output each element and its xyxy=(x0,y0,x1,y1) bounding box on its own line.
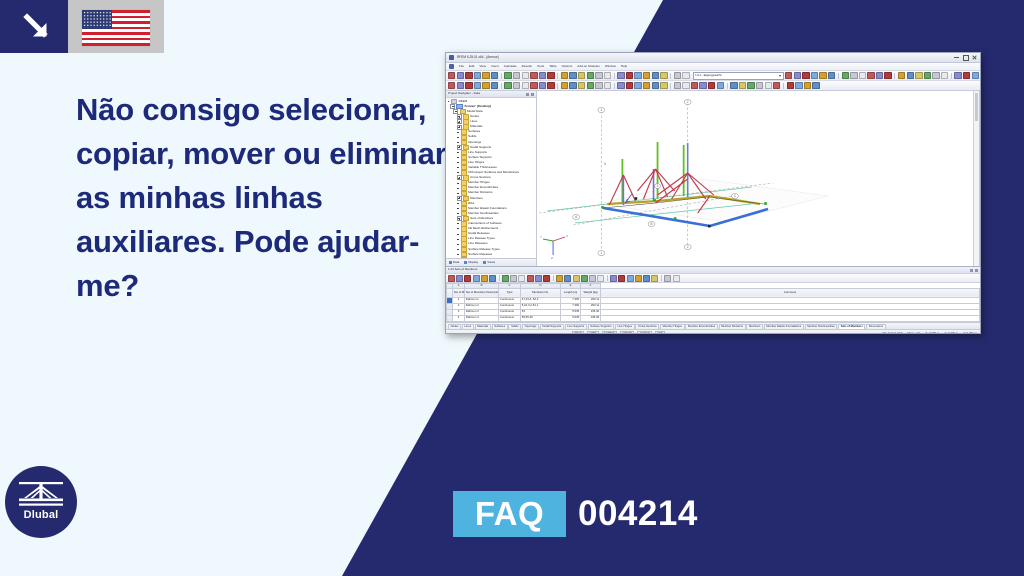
toolbar-button[interactable] xyxy=(907,72,914,79)
toolbar-separator xyxy=(951,73,952,79)
table-tab-sets-of-members[interactable]: Sets of Members xyxy=(838,324,865,329)
navigator-tab-display-label: Display xyxy=(468,261,478,264)
toolbar-button[interactable] xyxy=(691,82,698,89)
toolbar-button[interactable] xyxy=(980,72,981,79)
tree-spacer xyxy=(457,232,460,235)
tree-spacer xyxy=(457,182,460,185)
navigator-tab-views[interactable]: Views xyxy=(483,261,495,264)
toolbar-button[interactable] xyxy=(932,72,939,79)
table-column-headers: Set of M. No.Set of Members DescriptionT… xyxy=(447,288,980,297)
toolbar-button[interactable] xyxy=(730,82,737,89)
faq-label: FAQ xyxy=(475,495,544,533)
model-viewport[interactable]: 1 2 1 2 A C B 3 h xyxy=(537,91,980,266)
toolbar-button[interactable] xyxy=(643,72,650,79)
navigator-tree-item-label: Solids xyxy=(468,135,476,139)
table-tab-nodes[interactable]: Nodes xyxy=(448,324,461,329)
arrow-panel xyxy=(0,0,68,53)
toolbar-separator xyxy=(838,73,839,79)
toolbar-button[interactable] xyxy=(474,82,481,89)
statusbar-toggle-glines[interactable]: GLINES xyxy=(637,331,652,334)
rfem-app-icon xyxy=(449,55,454,60)
navigator-tree-item-label: Nodal Releases xyxy=(468,232,490,236)
navigator-tree-item-label: RFEM xyxy=(459,100,468,104)
toolbar-separator xyxy=(557,73,558,79)
toolbar-button[interactable] xyxy=(581,275,588,282)
expand-icon[interactable] xyxy=(457,216,462,221)
toolbar-button[interactable] xyxy=(481,275,488,282)
statusbar-toggle-cartes[interactable]: CARTES xyxy=(602,331,618,334)
toolbar-button[interactable] xyxy=(610,275,617,282)
menu-item-view[interactable]: View xyxy=(479,65,486,69)
navigator-tree-item-label: Materials xyxy=(470,125,482,129)
toolbar-button[interactable] xyxy=(569,82,576,89)
dimension-label: h xyxy=(604,162,606,166)
toolbar-button[interactable] xyxy=(756,82,763,89)
toolbar-separator xyxy=(553,275,554,281)
toolbar-button[interactable] xyxy=(578,82,585,89)
toolbar-button[interactable] xyxy=(643,82,650,89)
tree-spacer xyxy=(457,151,460,154)
toolbar-button[interactable] xyxy=(474,72,481,79)
faq-number: 004214 xyxy=(578,491,698,537)
navigator-tree-item-label: Line Hinges xyxy=(468,161,484,165)
statusbar-toggle-osnap[interactable]: OSNAP xyxy=(620,331,634,334)
menu-item-edit[interactable]: Edit xyxy=(469,65,474,69)
toolbar-button[interactable] xyxy=(504,82,511,89)
statusbar-toggle-snap[interactable]: SNAP xyxy=(572,331,584,334)
navigator-tree-item-label: Member Elastic Foundations xyxy=(468,207,507,211)
tree-spacer xyxy=(457,227,460,230)
toolbar-button[interactable] xyxy=(626,72,633,79)
toolbar-button[interactable] xyxy=(747,82,754,89)
main-toolbar[interactable]: LC1 - Eigengewicht xyxy=(446,71,980,81)
toolbar-button[interactable] xyxy=(589,275,596,282)
window-titlebar: RFEM 5.25.01 x64 - [Armour] xyxy=(446,53,980,63)
table-tab-solids[interactable]: Solids xyxy=(508,324,521,329)
svg-text:3: 3 xyxy=(657,184,659,188)
toolbar-button[interactable] xyxy=(627,275,634,282)
table-tab-member-eccentricities[interactable]: Member Eccentricities xyxy=(685,324,717,329)
tree-spacer xyxy=(447,100,450,103)
toolbar-button[interactable] xyxy=(652,82,659,89)
toolbar-button[interactable] xyxy=(626,82,633,89)
toolbar-button[interactable] xyxy=(504,72,511,79)
toolbar-button[interactable] xyxy=(867,72,874,79)
navigator-tree-item-label: Surface Supports xyxy=(468,156,492,160)
toolbar-button[interactable] xyxy=(473,275,480,282)
toolbar-button[interactable] xyxy=(842,72,849,79)
toolbar-button[interactable] xyxy=(618,275,625,282)
statusbar-cursor-z: Z: 0.000 m xyxy=(963,332,977,334)
toolbar-button[interactable] xyxy=(564,275,571,282)
toolbar-button[interactable] xyxy=(652,72,659,79)
table-tab-line-hinges[interactable]: Line Hinges xyxy=(615,324,635,329)
toolbar-button[interactable] xyxy=(915,72,922,79)
menu-item-table[interactable]: Table xyxy=(549,65,556,69)
toolbar-button[interactable] xyxy=(765,82,772,89)
table-tab-surfaces[interactable]: Surfaces xyxy=(492,324,508,329)
tree-spacer xyxy=(457,192,460,195)
toolbar-separator xyxy=(607,275,608,281)
toolbar-button[interactable] xyxy=(604,82,611,89)
toolbar-separator xyxy=(501,73,502,79)
coordinate-triad: X Y Z xyxy=(540,234,568,260)
maximize-button[interactable] xyxy=(963,55,968,60)
menu-app-icon xyxy=(449,64,454,69)
toolbar-button[interactable] xyxy=(674,82,681,89)
toolbar-button[interactable] xyxy=(972,72,979,79)
toolbar-button[interactable] xyxy=(634,82,641,89)
svg-text:B: B xyxy=(650,222,652,226)
table-body: 1Rahmen 1Continuous47,43-4, 52,37.360293… xyxy=(447,297,980,321)
axis-guidelines xyxy=(539,103,773,253)
statusbar-active-plane: Plane: XY xyxy=(908,332,921,334)
toolbar-button[interactable] xyxy=(617,82,624,89)
toolbar-separator xyxy=(614,73,615,79)
toolbar-separator xyxy=(783,83,784,89)
toolbar-button[interactable] xyxy=(604,72,611,79)
table-column-header[interactable]: Set of M. No. xyxy=(453,288,465,297)
dlubal-logo: Dlubal xyxy=(5,466,77,538)
toolbar-separator xyxy=(670,73,671,79)
expand-icon[interactable] xyxy=(457,175,462,180)
tree-spacer xyxy=(457,212,460,215)
window-title: RFEM 5.25.01 x64 - [Armour] xyxy=(457,56,499,60)
navigator-tree-item-label: Variable Thicknesses xyxy=(468,166,497,170)
navigator-tree-item-label: Member Divisions xyxy=(468,191,492,195)
toolbar-button[interactable] xyxy=(448,72,455,79)
slide-canvas: Não consigo selecionar, copiar, mover ou… xyxy=(0,0,1024,576)
toolbar-button[interactable] xyxy=(674,72,681,79)
toolbar-button[interactable] xyxy=(898,72,905,79)
headline-text: Não consigo selecionar, copiar, mover ou… xyxy=(76,88,456,308)
toolbar-separator xyxy=(614,83,615,89)
table-panel[interactable]: 1.24 Sets of Members ABCDEF Set of M. No… xyxy=(446,266,980,329)
table-title: 1.24 Sets of Members xyxy=(448,268,477,271)
toolbar-button[interactable] xyxy=(859,72,866,79)
navigator-title: Project Navigator - Data xyxy=(448,92,480,95)
toolbar-button[interactable] xyxy=(850,72,857,79)
toolbar-button[interactable] xyxy=(884,72,891,79)
toolbar-separator xyxy=(661,275,662,281)
toolbar-button[interactable] xyxy=(569,72,576,79)
toolbar-button[interactable] xyxy=(513,82,520,89)
navigator-tab-display[interactable]: Display xyxy=(464,261,478,264)
toolbar-button[interactable] xyxy=(651,275,658,282)
navigator-tab-data[interactable]: Data xyxy=(449,261,459,264)
axis-bubbles: 1 2 1 2 A C B 3 h xyxy=(573,99,739,255)
toolbar-button[interactable] xyxy=(617,72,624,79)
navigator-tree-item-label: Orthotropic Surfaces and Membranes xyxy=(468,171,519,175)
toolbar-button[interactable] xyxy=(547,82,554,89)
table-column-header[interactable]: Length [m] xyxy=(561,288,581,297)
toolbar-separator xyxy=(894,73,895,79)
menu-item-results[interactable]: Results xyxy=(522,65,532,69)
sets-of-members-table[interactable]: ABCDEF Set of M. No.Set of Members Descr… xyxy=(446,283,980,322)
status-bar[interactable]: SNAPGRIDCARTESOSNAPGLINESDXFCS: Global X… xyxy=(446,329,980,334)
svg-text:Y: Y xyxy=(540,235,542,239)
toolbar-button[interactable] xyxy=(489,275,496,282)
toolbar-button[interactable] xyxy=(448,82,455,89)
navigator-tree-item-label: Nodes xyxy=(470,115,479,119)
navigator-tree-item-label: Cross-Sections xyxy=(470,176,491,180)
toolbar-button[interactable] xyxy=(717,82,724,89)
table-column-header[interactable]: Type xyxy=(499,288,521,297)
table-tab-members[interactable]: Members xyxy=(746,324,763,329)
faq-badge: FAQ xyxy=(453,491,566,537)
statusbar-coordinate-system: CS: Global XYZ xyxy=(882,332,902,334)
navigator-pin-controls[interactable] xyxy=(526,93,534,96)
table-tab-member-divisions[interactable]: Member Divisions xyxy=(719,324,746,329)
toolbar-button[interactable] xyxy=(660,72,667,79)
toolbar-button[interactable] xyxy=(785,72,792,79)
dlubal-truss-icon xyxy=(18,481,64,507)
svg-text:X: X xyxy=(566,234,568,238)
toolbar-button[interactable] xyxy=(518,275,525,282)
project-navigator[interactable]: Project Navigator - Data RFEM'Armour' [D… xyxy=(446,91,537,266)
navigator-tree-item-label: Line Release Types xyxy=(468,237,495,241)
viewport-vertical-scrollbar[interactable] xyxy=(973,91,979,266)
chevron-down-icon[interactable] xyxy=(779,75,781,77)
toolbar-button[interactable] xyxy=(530,72,537,79)
table-tab-dimensions[interactable]: Dimensions xyxy=(866,324,886,329)
table-column-header[interactable]: Weight [kg] xyxy=(581,288,601,297)
navigator-tree-item-label: Sets of Members xyxy=(470,217,493,221)
scrollbar-thumb[interactable] xyxy=(975,93,979,121)
statusbar-cursor-x: X: 0.000 m xyxy=(925,332,939,334)
toolbar-button[interactable] xyxy=(587,72,594,79)
secondary-toolbar[interactable] xyxy=(446,81,980,91)
table-column-header[interactable]: Members No. xyxy=(521,288,561,297)
navigator-tree-item-label: Members xyxy=(470,197,483,201)
menu-bar[interactable]: File Edit View Insert Calculate Results … xyxy=(446,63,980,71)
navigator-tree-item-label: Member Eccentricities xyxy=(468,186,498,190)
navigator-tree-item-label: Intersections of Surfaces xyxy=(468,222,502,226)
us-flag-icon xyxy=(82,10,150,46)
menu-item-file[interactable]: File xyxy=(459,65,464,69)
statusbar-cursor-y: Y: 0.000 m xyxy=(944,332,958,334)
toolbar-button[interactable] xyxy=(804,82,811,89)
navigator-tree[interactable]: RFEM'Armour' [Desktop]Model DataNodesLin… xyxy=(446,98,536,258)
toolbar-button[interactable] xyxy=(941,72,948,79)
toolbar-button[interactable] xyxy=(795,82,802,89)
grid-plane xyxy=(599,179,828,222)
toolbar-separator xyxy=(727,83,728,89)
expand-icon[interactable] xyxy=(457,125,462,130)
toolbar-separator xyxy=(557,83,558,89)
rfem-application-window[interactable]: RFEM 5.25.01 x64 - [Armour] File Edit Vi… xyxy=(445,52,981,334)
navigator-tree-item-label: Surface Release Types xyxy=(468,248,499,252)
menu-item-tools[interactable]: Tools xyxy=(537,65,544,69)
arrow-down-right-icon xyxy=(22,12,52,42)
toolbar-button[interactable] xyxy=(812,82,819,89)
tree-spacer xyxy=(457,166,460,169)
toolbar-button[interactable] xyxy=(595,82,602,89)
navigator-tab-data-label: Data xyxy=(453,261,459,264)
toolbar-button[interactable] xyxy=(699,82,706,89)
toolbar-button[interactable] xyxy=(578,72,585,79)
toolbar-button[interactable] xyxy=(660,82,667,89)
statusbar-readouts: CS: Global XYZPlane: XYX: 0.000 mY: 0.00… xyxy=(882,332,977,334)
minimize-button[interactable] xyxy=(954,55,959,60)
toolbar-button[interactable] xyxy=(682,72,689,79)
menu-item-insert[interactable]: Insert xyxy=(491,65,499,69)
toolbar-button[interactable] xyxy=(448,275,455,282)
toolbar-button[interactable] xyxy=(573,275,580,282)
table-tab-lines[interactable]: Lines xyxy=(462,324,474,329)
toolbar-separator xyxy=(670,83,671,89)
toolbar-button[interactable] xyxy=(456,275,463,282)
toolbar-button[interactable] xyxy=(457,82,464,89)
toolbar-button[interactable] xyxy=(595,72,602,79)
navigator-tree-item-label: Nodal Supports xyxy=(470,146,491,150)
tree-spacer xyxy=(457,253,460,256)
statusbar-toggle-dxf[interactable]: DXF xyxy=(655,331,665,334)
toolbar-button[interactable] xyxy=(664,275,671,282)
toolbar-button[interactable] xyxy=(561,82,568,89)
toolbar-button[interactable] xyxy=(634,72,641,79)
toolbar-button[interactable] xyxy=(491,72,498,79)
toolbar-button[interactable] xyxy=(811,72,818,79)
tree-spacer xyxy=(457,248,460,251)
menu-item-options[interactable]: Options xyxy=(562,65,573,69)
toolbar-button[interactable] xyxy=(587,82,594,89)
toolbar-button[interactable] xyxy=(530,82,537,89)
navigator-tree-item-label: Surface Releases xyxy=(468,253,492,257)
toolbar-button[interactable] xyxy=(535,275,542,282)
toolbar-button[interactable] xyxy=(539,72,546,79)
expand-icon[interactable] xyxy=(457,196,462,201)
toolbar-button[interactable] xyxy=(482,82,489,89)
tree-spacer xyxy=(457,222,460,225)
table-tab-openings[interactable]: Openings xyxy=(522,324,539,329)
navigator-tree-item-label: Line Releases xyxy=(468,242,487,246)
toolbar-button[interactable] xyxy=(876,72,883,79)
language-flag-plate xyxy=(68,0,164,53)
expand-icon[interactable] xyxy=(457,145,462,150)
toolbar-button[interactable] xyxy=(802,72,809,79)
tree-spacer xyxy=(457,171,460,174)
navigator-tree-item-label: Line Supports xyxy=(468,151,487,155)
svg-text:1: 1 xyxy=(600,251,602,255)
table-column-header[interactable]: Comment xyxy=(601,288,980,297)
toolbar-button[interactable] xyxy=(510,275,517,282)
toolbar-button[interactable] xyxy=(773,82,780,89)
toolbar-button[interactable] xyxy=(794,72,801,79)
tree-spacer xyxy=(457,131,460,134)
tree-spacer xyxy=(457,136,460,139)
navigator-tab-views-label: Views xyxy=(487,261,495,264)
table-tab-line-supports[interactable]: Line Supports xyxy=(565,324,587,329)
toolbar-button[interactable] xyxy=(924,72,931,79)
toolbar-button[interactable] xyxy=(556,275,563,282)
toolbar-button[interactable] xyxy=(739,82,746,89)
navigator-tabs[interactable]: Data Display Views xyxy=(446,258,536,266)
toolbar-button[interactable] xyxy=(682,82,689,89)
menu-item-calculate[interactable]: Calculate xyxy=(504,65,517,69)
toolbar-button[interactable] xyxy=(597,275,604,282)
menu-item-addon-modules[interactable]: Add-on Modules xyxy=(577,65,600,69)
table-tab-surface-supports[interactable]: Surface Supports xyxy=(588,324,614,329)
toolbar-button[interactable] xyxy=(819,72,826,79)
toolbar-button[interactable] xyxy=(643,275,650,282)
navigator-tree-item-label: Openings xyxy=(468,141,481,145)
table-tab-nodal-supports[interactable]: Nodal Supports xyxy=(540,324,564,329)
toolbar-button[interactable] xyxy=(502,275,509,282)
table-tab-member-elastic-foundations[interactable]: Member Elastic Foundations xyxy=(764,324,804,329)
table-tab-cross-sections[interactable]: Cross-Sections xyxy=(635,324,659,329)
navigator-tree-item-label: Model Data xyxy=(467,110,483,114)
toolbar-button[interactable] xyxy=(539,82,546,89)
toolbar-button[interactable] xyxy=(482,72,489,79)
toolbar-button[interactable] xyxy=(527,275,534,282)
toolbar-button[interactable] xyxy=(513,72,520,79)
tree-spacer xyxy=(457,161,460,164)
toolbar-button[interactable] xyxy=(464,275,471,282)
toolbar-button[interactable] xyxy=(522,82,529,89)
table-grid-wrapper[interactable]: ABCDEF Set of M. No.Set of Members Descr… xyxy=(446,283,980,322)
load-case-value: LC1 - Eigengewicht xyxy=(695,74,721,77)
navigator-tree-item-label: Member Hinges xyxy=(468,181,490,185)
toolbar-button[interactable] xyxy=(963,72,970,79)
toolbar-button[interactable] xyxy=(465,72,472,79)
tree-spacer xyxy=(457,243,460,246)
table-tab-strip[interactable]: NodesLinesMaterialsSurfacesSolidsOpening… xyxy=(446,322,980,330)
svg-text:2: 2 xyxy=(687,100,689,104)
navigator-tree-item-label: FE Mesh Refinements xyxy=(468,227,498,231)
svg-text:Z: Z xyxy=(551,256,553,260)
toolbar-button[interactable] xyxy=(635,275,642,282)
dlubal-wordmark: Dlubal xyxy=(5,509,77,521)
toolbar-button[interactable] xyxy=(787,82,794,89)
structural-model-3d[interactable]: 1 2 1 2 A C B 3 h xyxy=(537,91,979,266)
tree-spacer xyxy=(457,207,460,210)
toolbar-button[interactable] xyxy=(828,72,835,79)
tree-spacer xyxy=(457,141,460,144)
menu-item-help[interactable]: Help xyxy=(621,65,627,69)
svg-text:2: 2 xyxy=(687,245,689,249)
toolbar-button[interactable] xyxy=(708,82,715,89)
navigator-tree-item-label: Ribs xyxy=(468,202,474,206)
statusbar-toggle-grid[interactable]: GRID xyxy=(587,331,599,334)
menu-item-window[interactable]: Window xyxy=(605,65,616,69)
table-panel-controls[interactable] xyxy=(970,269,979,272)
navigator-tree-item-label: Lines xyxy=(470,120,477,124)
table-toolbar[interactable] xyxy=(446,274,980,283)
close-button[interactable] xyxy=(972,55,977,60)
toolbar-button[interactable] xyxy=(491,82,498,89)
toolbar-button[interactable] xyxy=(561,72,568,79)
table-tab-materials[interactable]: Materials xyxy=(475,324,491,329)
svg-text:1: 1 xyxy=(600,108,602,112)
toolbar-separator xyxy=(499,275,500,281)
toolbar-button[interactable] xyxy=(547,72,554,79)
toolbar-button[interactable] xyxy=(954,72,961,79)
toolbar-button[interactable] xyxy=(673,275,680,282)
table-column-header[interactable]: Set of Members Description xyxy=(465,288,499,297)
tree-spacer xyxy=(457,202,460,205)
table-tab-member-nonlinearities[interactable]: Member Nonlinearities xyxy=(805,324,838,329)
toolbar-button[interactable] xyxy=(543,275,550,282)
navigator-tree-item-label: 'Armour' [Desktop] xyxy=(464,105,491,109)
table-tab-member-hinges[interactable]: Member Hinges xyxy=(660,324,685,329)
toolbar-button[interactable] xyxy=(465,82,472,89)
toolbar-button[interactable] xyxy=(457,72,464,79)
toolbar-button[interactable] xyxy=(522,72,529,79)
load-case-selector[interactable]: LC1 - Eigengewicht xyxy=(693,72,784,80)
window-controls[interactable] xyxy=(954,55,977,60)
navigator-tree-item-label: Member Nonlinearities xyxy=(468,212,498,216)
